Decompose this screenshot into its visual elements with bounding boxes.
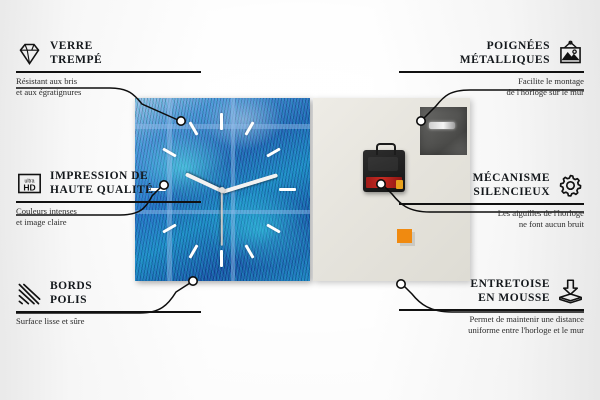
callout-title: MÉCANISMESILENCIEUX xyxy=(473,172,550,199)
callout-divider xyxy=(16,71,201,73)
callout-divider xyxy=(399,203,584,205)
hour-tick xyxy=(279,188,296,191)
callout-verre-trempe[interactable]: VERRETREMPÉ Résistant aux briset aux égr… xyxy=(16,40,201,99)
callout-divider xyxy=(16,311,201,313)
foam-spacer-down-arrow-icon xyxy=(557,278,584,305)
callout-header: ENTRETOISEEN MOUSSE xyxy=(399,278,584,305)
callout-title: BORDSPOLIS xyxy=(50,280,92,307)
callout-header: BORDSPOLIS xyxy=(16,280,201,307)
callout-header: ultra HD IMPRESSION DEHAUTE QUALITÉ xyxy=(16,170,201,197)
callout-description: Permet de maintenir une distanceuniforme… xyxy=(399,314,584,337)
hour-tick xyxy=(220,250,223,267)
callout-title: IMPRESSION DEHAUTE QUALITÉ xyxy=(50,170,153,197)
hour-tick xyxy=(220,113,223,130)
polished-edges-icon xyxy=(16,280,43,307)
callout-divider xyxy=(16,201,201,203)
ultra-hd-badge-icon: ultra HD xyxy=(16,170,43,197)
callout-description: Résistant aux briset aux égratignures xyxy=(16,76,201,99)
callout-entretoise-en-mousse[interactable]: ENTRETOISEEN MOUSSE Permet de maintenir … xyxy=(399,278,584,337)
callout-header: MÉCANISMESILENCIEUX xyxy=(399,172,584,199)
gear-icon xyxy=(557,172,584,199)
callout-mecanisme-silencieux[interactable]: MÉCANISMESILENCIEUX Les aiguilles de l'h… xyxy=(399,172,584,231)
callout-impression-haute-qualite[interactable]: ultra HD IMPRESSION DEHAUTE QUALITÉ Coul… xyxy=(16,170,201,229)
callout-divider xyxy=(399,71,584,73)
hanger-slot xyxy=(429,122,455,129)
callout-description: Facilite le montagede l'horloge sur le m… xyxy=(399,76,584,99)
callout-description: Surface lisse et sûre xyxy=(16,316,201,327)
callout-header: VERRETREMPÉ xyxy=(16,40,201,67)
clock-hub xyxy=(219,187,225,193)
callout-bords-polis[interactable]: BORDSPOLIS Surface lisse et sûre xyxy=(16,280,201,327)
callout-poignees-metalliques[interactable]: POIGNÉESMÉTALLIQUES Facilite le montaged… xyxy=(399,40,584,99)
callout-divider xyxy=(399,309,584,311)
foam-spacer-pad xyxy=(397,229,412,243)
diamond-icon xyxy=(16,40,43,67)
svg-text:HD: HD xyxy=(23,182,35,192)
callout-description: Couleurs intenseset image claire xyxy=(16,206,201,229)
callout-description: Les aiguilles de l'horlogene font aucun … xyxy=(399,208,584,231)
hanging-picture-frame-icon xyxy=(557,40,584,67)
metal-hanger-plate xyxy=(420,107,467,155)
second-hand xyxy=(221,191,223,246)
callout-title: POIGNÉESMÉTALLIQUES xyxy=(460,40,550,67)
mechanism-housing xyxy=(368,157,398,171)
infographic-canvas: VERRETREMPÉ Résistant aux briset aux égr… xyxy=(0,0,600,400)
callout-header: POIGNÉESMÉTALLIQUES xyxy=(399,40,584,67)
hanger-loop-icon xyxy=(376,143,396,155)
callout-title: VERRETREMPÉ xyxy=(50,40,102,67)
callout-title: ENTRETOISEEN MOUSSE xyxy=(470,278,550,305)
